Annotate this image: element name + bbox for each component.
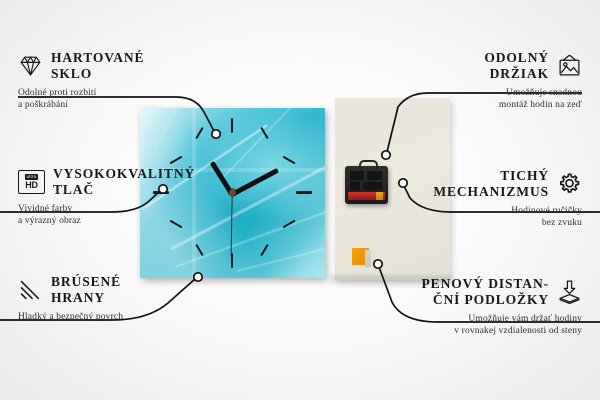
feature-header: ultra HD VYSOKOKVALITNÝ TLAČ	[18, 166, 203, 198]
feature-description: Odolné proti rozbití a poškrábání	[18, 87, 203, 112]
feather-streak	[153, 108, 187, 152]
feature-beveled-edges: BRÚSENÉ HRANY Hladký a bezpečný povrch	[18, 274, 203, 323]
feature-title: ODOLNÝ DRŽIAK	[484, 50, 549, 82]
clock-mechanism	[345, 166, 388, 204]
clock-tick-12	[231, 118, 233, 133]
clock-tick-10	[169, 156, 182, 165]
beveled-edges-icon	[18, 277, 43, 302]
feature-header: BRÚSENÉ HRANY	[18, 274, 203, 306]
feature-description: Hodinové ručičky bez zvuku	[397, 205, 582, 230]
battery	[348, 192, 385, 200]
gear-icon	[557, 171, 582, 196]
foam-spacer-side	[365, 250, 371, 267]
ultra-hd-icon: ultra HD	[18, 170, 45, 194]
feature-title: VYSOKOKVALITNÝ TLAČ	[53, 166, 195, 198]
feature-title: PENOVÝ DISTAN- ČNÍ PODLOŽKY	[422, 276, 549, 308]
clock-tick-3	[296, 191, 312, 194]
feature-description: Umožňuje vám držať hodiny v rovnakej vzd…	[380, 313, 582, 338]
feature-header: TICHÝ MECHANIZMUS	[397, 168, 582, 200]
battery-positive-terminal	[376, 192, 383, 200]
mechanism-panel	[350, 171, 364, 180]
feature-description: Hladký a bezpečný povrch	[18, 311, 203, 324]
feature-title: TICHÝ MECHANIZMUS	[433, 168, 549, 200]
feature-title: BRÚSENÉ HRANY	[51, 274, 121, 306]
feature-silent-mechanism: TICHÝ MECHANIZMUS Hodinové ručičky bez z…	[397, 168, 582, 230]
mechanism-panel	[350, 182, 360, 190]
feature-description: Umožňuje snadnou montáž hodin na zeď	[397, 87, 582, 112]
wall-hanger-icon	[557, 53, 582, 78]
clock-tick-2	[282, 156, 295, 165]
diamond-icon	[18, 53, 43, 78]
clock-tick-7	[195, 244, 203, 256]
feature-header: ODOLNÝ DRŽIAK	[397, 50, 582, 82]
mechanism-panel	[363, 182, 382, 190]
clock-center-pin	[229, 189, 236, 196]
feature-foam-spacers: PENOVÝ DISTAN- ČNÍ PODLOŽKY Umožňuje vám…	[380, 276, 582, 338]
feature-hardened-glass: HARTOVANÉ SKLO Odolné proti rozbití a po…	[18, 50, 203, 112]
feature-header: PENOVÝ DISTAN- ČNÍ PODLOŽKY	[380, 276, 582, 308]
mechanism-hanger-hook	[359, 160, 378, 170]
foam-spacer-pad	[352, 248, 369, 265]
feature-header: HARTOVANÉ SKLO	[18, 50, 203, 82]
feature-title: HARTOVANÉ SKLO	[51, 50, 144, 82]
clock-tick-5	[260, 244, 268, 256]
feature-description: Vividné farby a výrazný obraz	[18, 203, 203, 228]
clock-tick-11	[195, 127, 203, 139]
mechanism-panel	[367, 171, 382, 180]
feature-high-quality-print: ultra HD VYSOKOKVALITNÝ TLAČ Vividné far…	[18, 166, 203, 228]
feature-durable-hanger: ODOLNÝ DRŽIAK Umožňuje snadnou montáž ho…	[397, 50, 582, 112]
foam-spacer-icon	[557, 279, 582, 304]
feather-streak	[236, 246, 325, 272]
product-infographic: HARTOVANÉ SKLO Odolné proti rozbití a po…	[0, 0, 600, 400]
